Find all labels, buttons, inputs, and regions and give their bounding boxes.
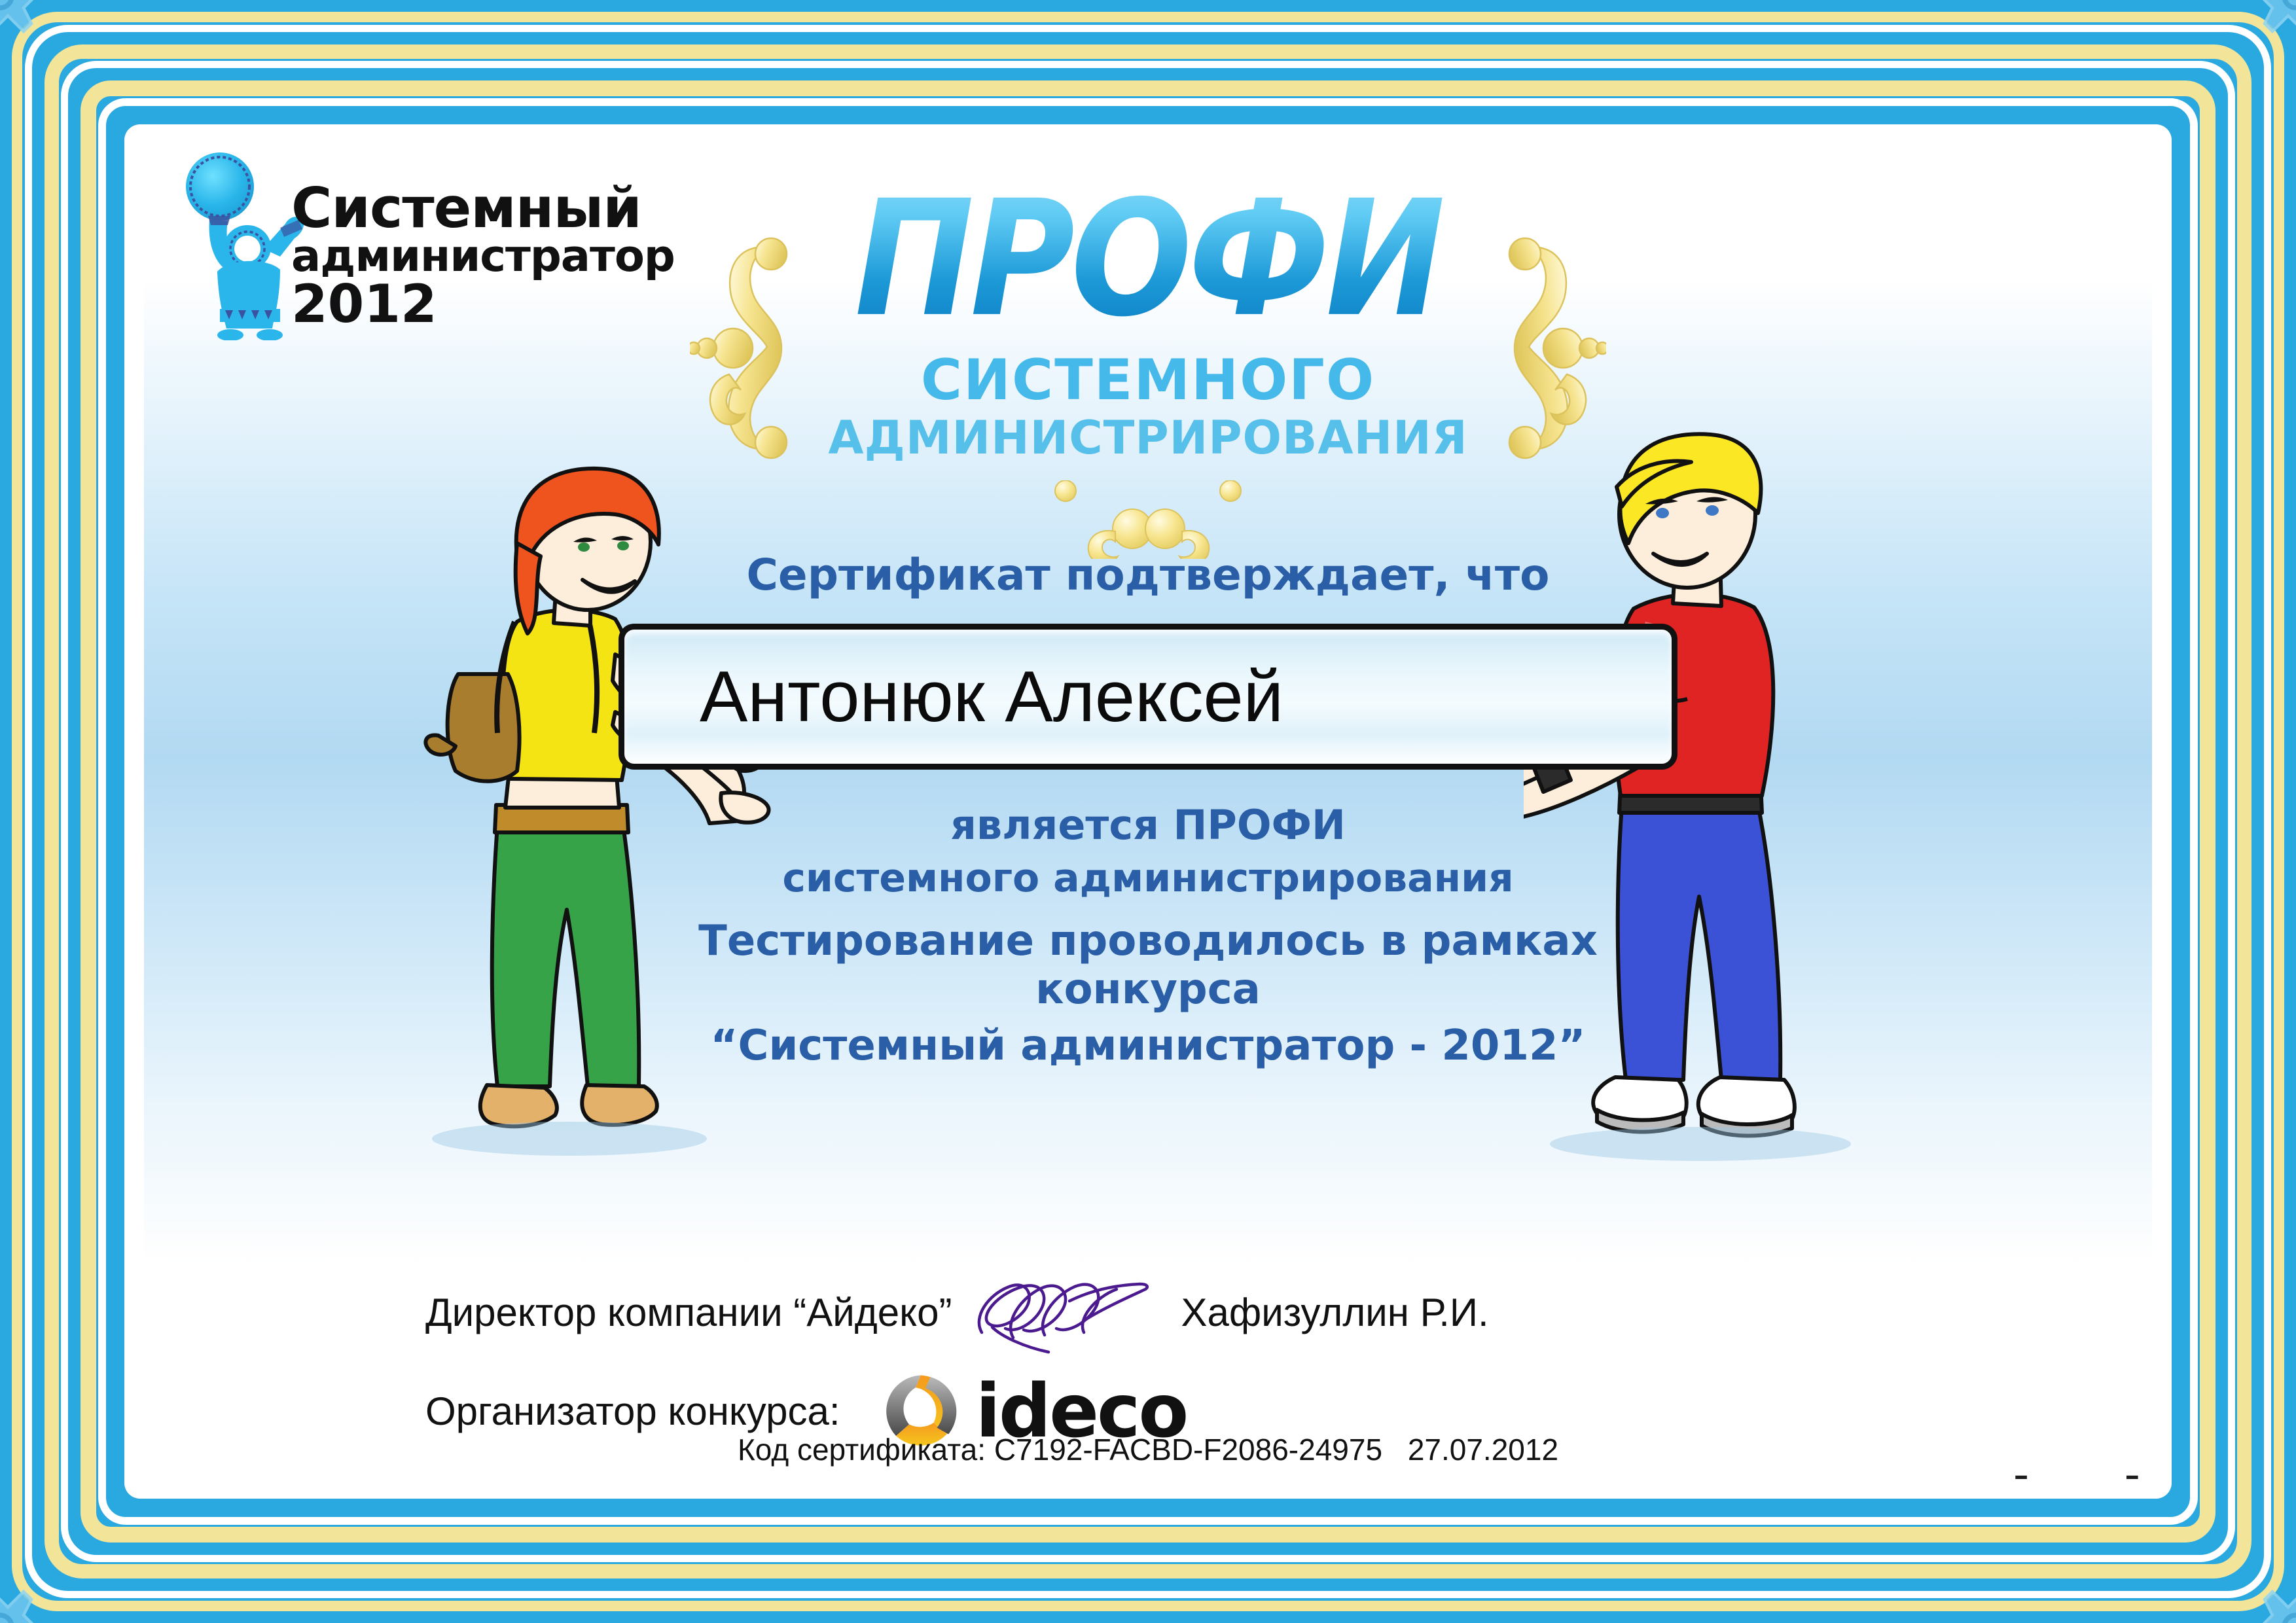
title-sub-2: АДМИНИСТРИРОВАНИЯ: [739, 415, 1557, 461]
recipient-name-plate: Антонюк Алексей: [619, 624, 1677, 770]
organizer-label: Организатор конкурса:: [425, 1389, 840, 1434]
brand-line-2: администратор: [291, 234, 645, 278]
certificate-canvas: Системный администратор 2012: [144, 144, 2152, 1479]
gold-ornament-bottom-icon: [1050, 480, 1246, 559]
confirm-line: Сертификат подтверждает, что: [598, 550, 1698, 600]
brand-line-1: Системный: [291, 183, 645, 234]
certificate-code-line: Код сертификата: C7192-FACBD-F2086-24975…: [144, 1432, 2152, 1467]
body-line-5: “Системный администратор - 2012”: [598, 1022, 1698, 1070]
pliers-corner-icon: [2198, 1525, 2296, 1623]
bash-im-wordmark: bash.im: [2013, 1471, 2152, 1479]
title-main: ПРОФИ: [739, 181, 1557, 338]
pliers-corner-icon: [0, 1525, 98, 1623]
pliers-corner-icon: [0, 0, 98, 98]
certificate-body: Сертификат подтверждает, что Антонюк Але…: [598, 550, 1698, 1070]
code-label: Код сертификата:: [738, 1433, 986, 1467]
signature-row: Директор компании “Айдеко” Хафизуллин Р.…: [144, 1270, 2152, 1355]
partners-row: Партнеры конкурса: KASPERSKY lab Sky DNS: [144, 1471, 2152, 1479]
signer-name: Хафизуллин Р.И.: [1181, 1290, 1488, 1335]
body-line-4: Тестирование проводилось в рамках конкур…: [598, 917, 1698, 1014]
code-value: C7192-FACBD-F2086-24975: [994, 1433, 1382, 1467]
title-sub-1: СИСТЕМНОГО: [739, 352, 1557, 408]
issue-date: 27.07.2012: [1408, 1433, 1558, 1467]
sysadmin-2012-brand: Системный администратор 2012: [170, 151, 648, 347]
brand-line-3: 2012: [291, 278, 645, 330]
certificate-root: Системный администратор 2012: [0, 0, 2296, 1623]
partner-logos: KASPERSKY lab Sky DNS Системный админи: [832, 1471, 2152, 1479]
bash-im-logo: bash.im ЦИТАТНИК РУНЕТА: [2013, 1471, 2152, 1479]
pliers-corner-icon: [2198, 0, 2296, 98]
body-line-3: системного администрирования: [598, 855, 1698, 901]
signature-label: Директор компании “Айдеко”: [425, 1290, 952, 1335]
handwritten-signature-icon: [971, 1270, 1161, 1355]
title-block: ПРОФИ СИСТЕМНОГО АДМИНИСТРИРОВАНИЯ: [739, 157, 1557, 461]
body-line-2: является ПРОФИ: [598, 801, 1698, 849]
recipient-name: Антонюк Алексей: [624, 655, 1283, 738]
